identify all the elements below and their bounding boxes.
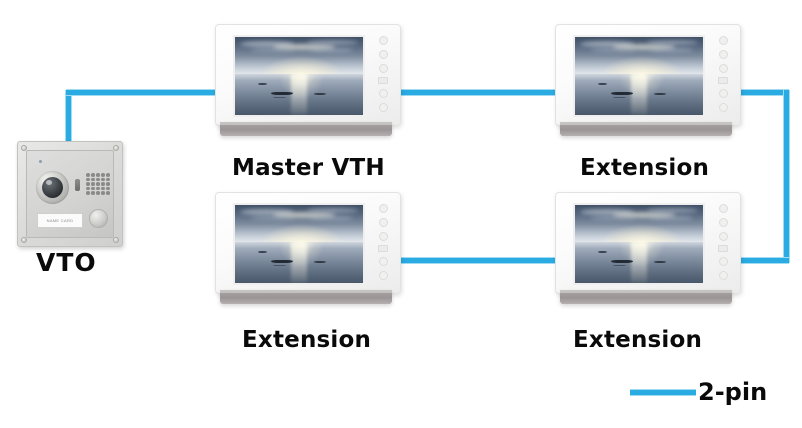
screen-sun-glare	[291, 242, 306, 283]
screen-sun-glare	[291, 74, 306, 115]
device-vto[interactable]: NAME CARD	[17, 141, 123, 247]
monitor-stand	[220, 122, 392, 136]
side-button[interactable]	[379, 257, 388, 266]
device-label-extension-bottom-left: Extension	[242, 327, 371, 353]
cable-vto-vertical	[66, 90, 71, 145]
monitor-side-buttons[interactable]	[372, 34, 394, 114]
monitor-side-buttons[interactable]	[712, 34, 734, 114]
monitor-bezel	[215, 24, 401, 126]
cable-extension-bottom-right-in	[737, 258, 789, 263]
boat-reflection	[613, 97, 626, 98]
boat-silhouette	[611, 92, 633, 95]
boat-silhouette	[314, 93, 326, 95]
cable-vto-to-master-vth	[66, 90, 218, 95]
screen-sun-glare	[631, 242, 646, 283]
boat-silhouette	[598, 251, 607, 253]
side-button[interactable]	[719, 232, 728, 241]
device-label-master-vth: Master VTH	[232, 155, 385, 181]
card-slot-icon	[75, 179, 80, 191]
cable-right-riser	[784, 90, 789, 263]
screen-sun-glare	[631, 74, 646, 115]
side-button[interactable]	[719, 218, 728, 227]
side-button[interactable]	[718, 245, 728, 252]
screw-icon	[113, 145, 119, 151]
boat-silhouette	[654, 93, 666, 95]
boat-reflection	[273, 265, 286, 266]
monitor-screen[interactable]	[573, 35, 705, 117]
screen-sea	[575, 74, 703, 115]
side-button[interactable]	[378, 77, 388, 84]
monitor-bezel	[215, 192, 401, 294]
monitor-stand	[220, 290, 392, 304]
side-button[interactable]	[719, 89, 728, 98]
side-button[interactable]	[379, 232, 388, 241]
nameplate: NAME CARD	[37, 213, 83, 228]
monitor-stand	[560, 122, 732, 136]
device-extension-bottom-right[interactable]	[555, 192, 739, 310]
side-button[interactable]	[379, 50, 388, 59]
device-master-vth[interactable]	[215, 24, 399, 142]
side-button[interactable]	[719, 50, 728, 59]
legend: 2-pin	[630, 380, 767, 404]
cable-extension-bottom-left-to-bottom-right	[399, 258, 559, 263]
boat-silhouette	[598, 83, 607, 85]
monitor-bezel	[555, 24, 741, 126]
status-led-icon	[39, 160, 42, 163]
screen-sea	[575, 242, 703, 283]
boat-silhouette	[314, 261, 326, 263]
screen-sky	[575, 205, 703, 242]
side-button[interactable]	[379, 204, 388, 213]
device-extension-top-right[interactable]	[555, 24, 739, 142]
screen-sky	[235, 205, 363, 242]
monitor-screen[interactable]	[573, 203, 705, 285]
side-button[interactable]	[719, 64, 728, 73]
speaker-grille-icon	[86, 173, 110, 195]
vto-faceplate: NAME CARD	[26, 150, 114, 238]
call-button[interactable]	[89, 209, 108, 228]
screen-sky	[235, 37, 363, 74]
side-button[interactable]	[378, 245, 388, 252]
monitor-bezel	[555, 192, 741, 294]
monitor-stand	[560, 290, 732, 304]
boat-reflection	[273, 97, 286, 98]
side-button[interactable]	[719, 36, 728, 45]
side-button[interactable]	[719, 204, 728, 213]
cable-master-vth-to-extension-top-right	[399, 90, 559, 95]
device-extension-bottom-left[interactable]	[215, 192, 399, 310]
lens-glint	[46, 180, 52, 185]
boat-reflection	[613, 265, 626, 266]
side-button[interactable]	[379, 218, 388, 227]
legend-label: 2-pin	[698, 380, 767, 404]
boat-silhouette	[258, 83, 267, 85]
monitor-side-buttons[interactable]	[712, 202, 734, 282]
screw-icon	[21, 237, 27, 243]
side-button[interactable]	[379, 64, 388, 73]
monitor-screen[interactable]	[233, 203, 365, 285]
legend-line-swatch	[630, 390, 696, 395]
screen-sky	[575, 37, 703, 74]
boat-silhouette	[271, 260, 293, 263]
screen-sea	[235, 242, 363, 283]
screen-sea	[235, 74, 363, 115]
device-label-extension-top-right: Extension	[580, 155, 709, 181]
screw-icon	[113, 237, 119, 243]
side-button[interactable]	[718, 77, 728, 84]
boat-silhouette	[654, 261, 666, 263]
monitor-side-buttons[interactable]	[372, 202, 394, 282]
side-button[interactable]	[719, 271, 728, 280]
device-label-extension-bottom-right: Extension	[573, 327, 702, 353]
side-button[interactable]	[379, 36, 388, 45]
boat-silhouette	[271, 92, 293, 95]
camera-icon	[42, 177, 63, 198]
side-button[interactable]	[719, 257, 728, 266]
boat-silhouette	[611, 260, 633, 263]
diagram-canvas: NAME CARD VTO	[0, 0, 802, 428]
device-label-vto: VTO	[36, 248, 97, 277]
cable-extension-top-right-out	[737, 90, 789, 95]
side-button[interactable]	[379, 89, 388, 98]
side-button[interactable]	[379, 103, 388, 112]
camera-lens-ring	[36, 171, 69, 204]
side-button[interactable]	[719, 103, 728, 112]
boat-silhouette	[258, 251, 267, 253]
monitor-screen[interactable]	[233, 35, 365, 117]
nameplate-text: NAME CARD	[38, 214, 82, 227]
side-button[interactable]	[379, 271, 388, 280]
